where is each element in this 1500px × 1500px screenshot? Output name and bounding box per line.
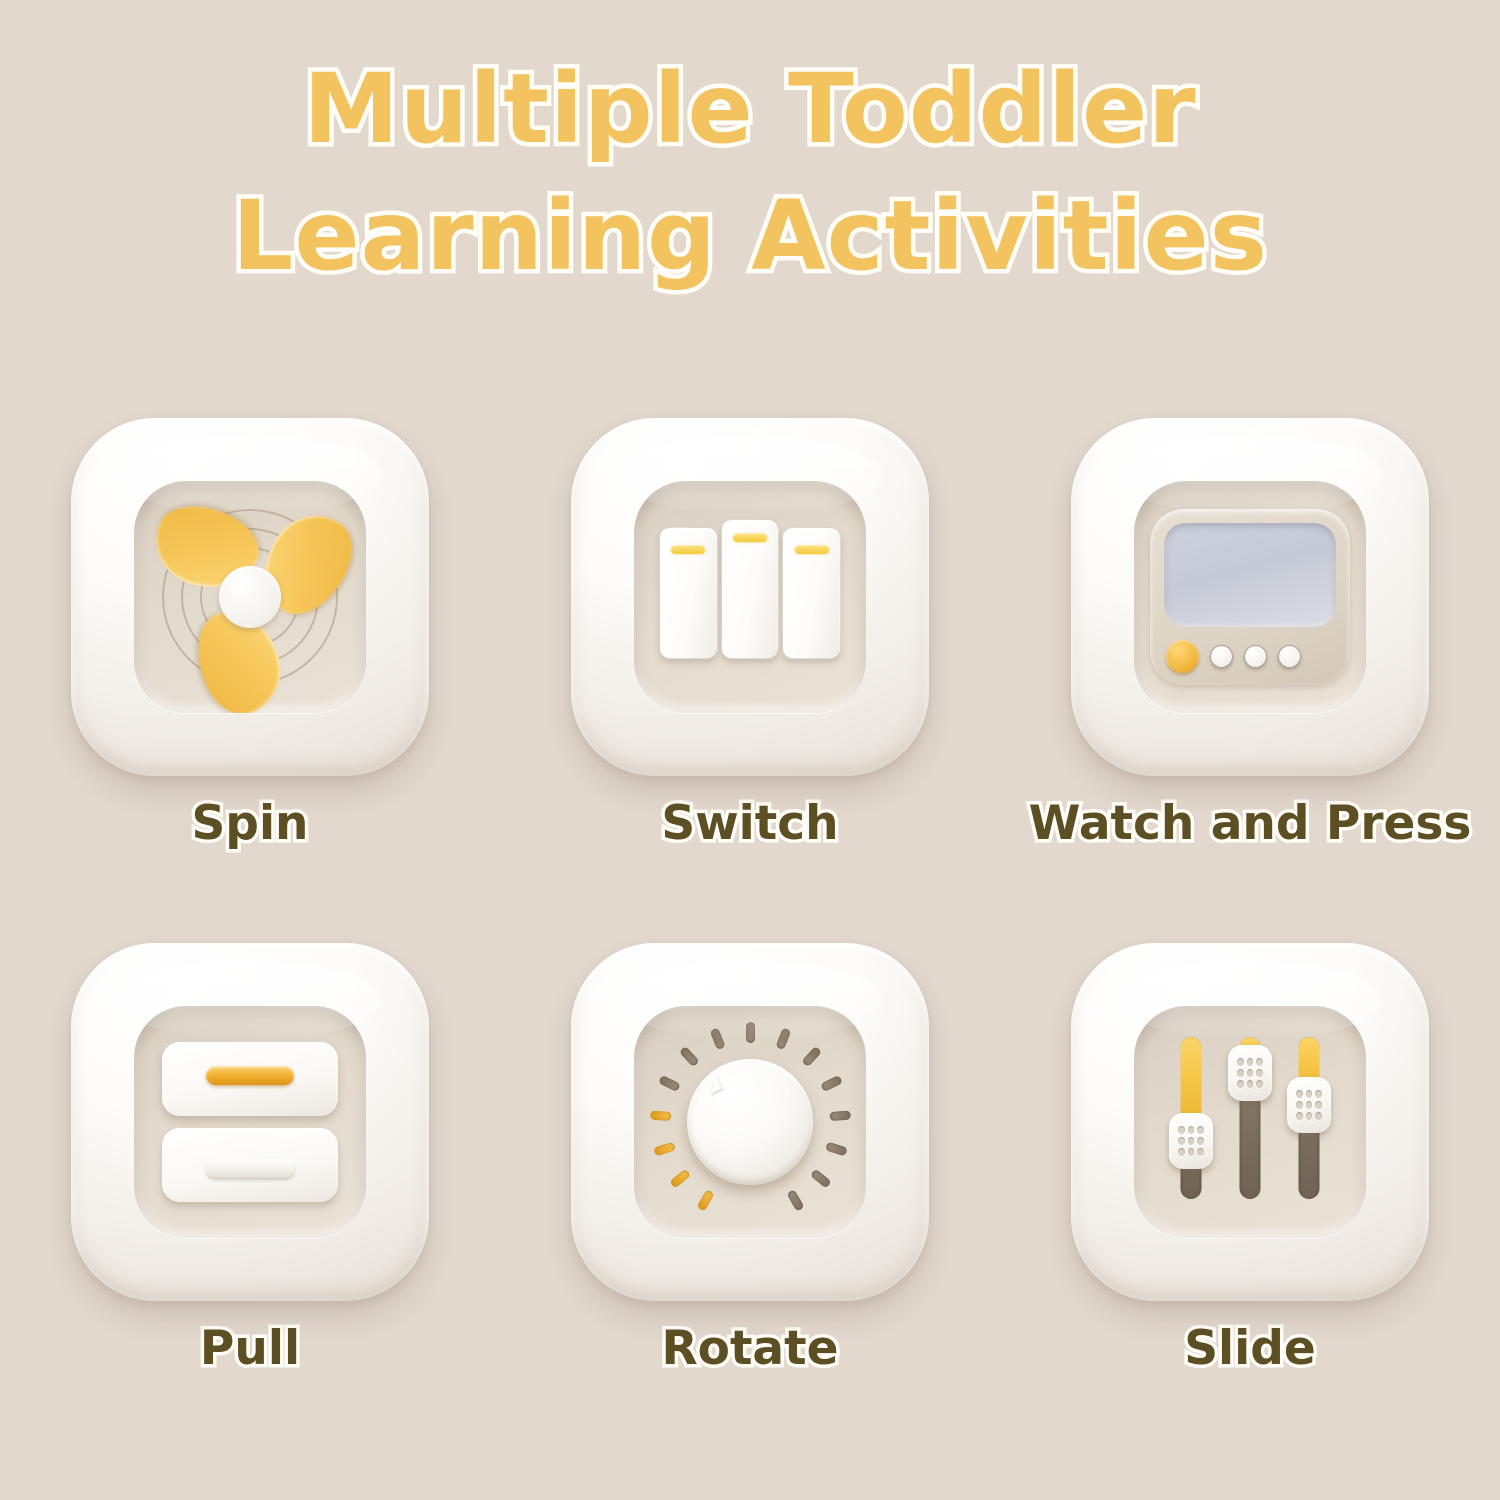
pull-drawer-bottom[interactable] <box>162 1128 338 1202</box>
thumb-grip-dot <box>1256 1080 1263 1088</box>
slider-thumb[interactable] <box>1169 1113 1213 1169</box>
slider-thumb[interactable] <box>1228 1045 1272 1101</box>
thumb-grip-dot <box>1296 1112 1303 1120</box>
rotary-knob-icon[interactable] <box>652 1024 848 1220</box>
thumb-grip-dot <box>1237 1069 1244 1077</box>
drawer-handle-white[interactable] <box>206 1159 294 1178</box>
thumb-grip-dot <box>1306 1112 1313 1120</box>
title-line-2: Learning Activities <box>0 173 1500 300</box>
thumb-grip-dot <box>1188 1126 1195 1134</box>
pull-drawer-icon <box>162 1042 338 1202</box>
rocker-switch-icon <box>659 527 841 667</box>
recess-panel <box>134 1006 366 1238</box>
module-watch-and-press[interactable] <box>1071 418 1429 776</box>
recess-panel <box>134 481 366 713</box>
dial-tick <box>658 1074 681 1091</box>
dial-tick <box>829 1110 851 1121</box>
slider-2[interactable] <box>1235 1037 1265 1199</box>
module-switch[interactable] <box>571 418 929 776</box>
dial-tick <box>653 1141 676 1156</box>
feature-label-spin: Spin <box>191 796 308 851</box>
knob-pointer-icon <box>705 1077 723 1095</box>
module-spin[interactable] <box>71 418 429 776</box>
thumb-grip-dot <box>1247 1058 1254 1066</box>
recess-panel <box>634 1006 866 1238</box>
tv-icon <box>1150 509 1350 685</box>
thumb-grip-dot <box>1247 1080 1254 1088</box>
thumb-grip-dot <box>1296 1101 1303 1109</box>
feature-label-watch-and-press: Watch and Press <box>1029 796 1472 851</box>
indicator-led-icon <box>795 546 829 554</box>
dial-tick <box>825 1141 848 1156</box>
dial-tick <box>775 1027 791 1050</box>
pull-drawer-top[interactable] <box>162 1042 338 1116</box>
thumb-grip-dot <box>1256 1058 1263 1066</box>
dial-tick <box>649 1110 671 1121</box>
slider-1[interactable] <box>1176 1037 1206 1199</box>
thumb-grip-dot <box>1197 1148 1204 1156</box>
thumb-grip-dot <box>1237 1080 1244 1088</box>
feature-card-pull: Pull <box>15 943 485 1468</box>
thumb-grip-dot <box>1197 1137 1204 1145</box>
rocker-switch-3[interactable] <box>782 527 841 659</box>
feature-card-slide: Slide <box>1015 943 1485 1468</box>
dial-tick <box>709 1027 725 1050</box>
thumb-grip-dot <box>1178 1126 1185 1134</box>
knob-cap[interactable] <box>687 1059 813 1185</box>
thumb-grip-dot <box>1178 1148 1185 1156</box>
feature-label-slide: Slide <box>1184 1321 1316 1376</box>
feature-card-rotate: Rotate <box>515 943 985 1468</box>
feature-card-watch-and-press: Watch and Press <box>1015 418 1485 943</box>
thumb-grip-dot <box>1296 1090 1303 1098</box>
drawer-handle-orange[interactable] <box>206 1066 294 1085</box>
module-pull[interactable] <box>71 943 429 1301</box>
tv-button-orange[interactable] <box>1166 640 1199 673</box>
dial-tick <box>801 1045 822 1067</box>
tv-button-white-1[interactable] <box>1210 645 1233 668</box>
thumb-grip-dot <box>1188 1148 1195 1156</box>
module-rotate[interactable] <box>571 943 929 1301</box>
recess-panel <box>634 481 866 713</box>
dial-tick <box>678 1045 699 1067</box>
feature-label-rotate: Rotate <box>661 1321 838 1376</box>
dial-tick <box>820 1074 843 1091</box>
tv-button-white-3[interactable] <box>1278 645 1301 668</box>
indicator-led-icon <box>733 534 767 542</box>
feature-card-spin: Spin <box>15 418 485 943</box>
thumb-grip-dot <box>1315 1101 1322 1109</box>
thumb-grip-dot <box>1315 1090 1322 1098</box>
thumb-grip-dot <box>1178 1137 1185 1145</box>
feature-label-switch: Switch <box>661 796 838 851</box>
feature-grid: Spin Switch <box>0 418 1500 1468</box>
thumb-grip-dot <box>1188 1137 1195 1145</box>
tv-screen <box>1164 523 1336 627</box>
page-title: Multiple Toddler Learning Activities <box>0 0 1500 299</box>
feature-card-switch: Switch <box>515 418 985 943</box>
rocker-switch-2[interactable] <box>721 519 780 659</box>
slider-thumb[interactable] <box>1287 1077 1331 1133</box>
thumb-grip-dot <box>1315 1112 1322 1120</box>
tv-button-row <box>1164 640 1336 673</box>
thumb-grip-dot <box>1237 1058 1244 1066</box>
dial-tick <box>786 1189 804 1212</box>
thumb-grip-dot <box>1306 1090 1313 1098</box>
dial-tick <box>746 1022 755 1043</box>
thumb-grip-dot <box>1247 1069 1254 1077</box>
module-slide[interactable] <box>1071 943 1429 1301</box>
dial-tick <box>669 1168 691 1188</box>
dial-tick <box>696 1189 714 1212</box>
recess-panel <box>1134 481 1366 713</box>
thumb-grip-dot <box>1306 1101 1313 1109</box>
fan-hub <box>219 566 281 628</box>
slider-icon <box>1162 1037 1338 1207</box>
tv-button-white-2[interactable] <box>1244 645 1267 668</box>
rocker-switch-1[interactable] <box>659 527 718 659</box>
thumb-grip-dot <box>1197 1126 1204 1134</box>
slider-3[interactable] <box>1294 1037 1324 1199</box>
thumb-grip-dot <box>1256 1069 1263 1077</box>
recess-panel <box>1134 1006 1366 1238</box>
title-line-1: Multiple Toddler <box>0 46 1500 173</box>
dial-tick <box>809 1168 831 1188</box>
indicator-led-icon <box>671 546 705 554</box>
feature-label-pull: Pull <box>200 1321 300 1376</box>
